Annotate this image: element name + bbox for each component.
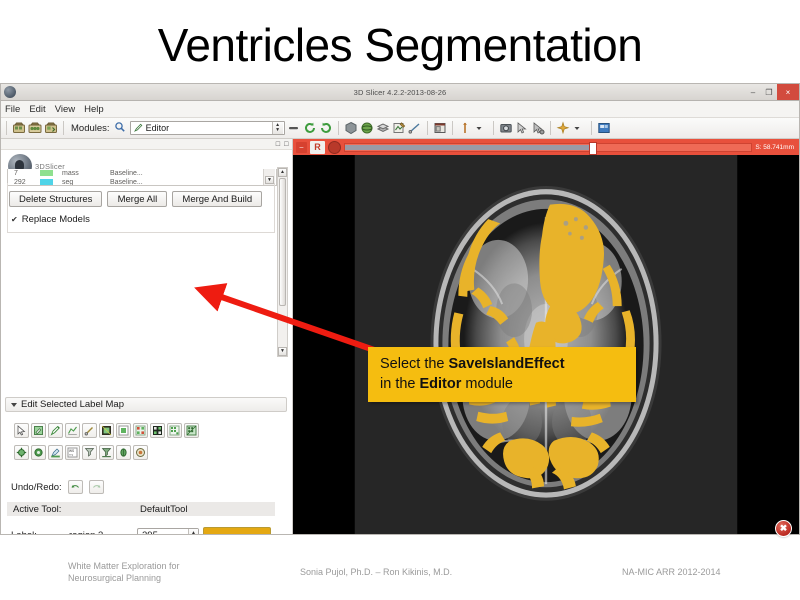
checkmark-icon: ✔ — [11, 215, 18, 224]
callout-box: Select the SaveIslandEffect in the Edito… — [368, 347, 636, 402]
close-button[interactable]: × — [777, 84, 799, 100]
footer-left: White Matter Exploration for Neurosurgic… — [68, 560, 180, 584]
layout-icon[interactable] — [433, 121, 447, 135]
ruler-icon[interactable] — [408, 121, 422, 135]
editor-pencil-icon — [134, 123, 143, 134]
slider-track-filled — [345, 145, 593, 150]
chevron-up-icon[interactable]: ▲ — [191, 531, 196, 536]
svg-text:WS: WS — [69, 449, 74, 453]
layers-icon[interactable] — [376, 121, 390, 135]
chevron-down-icon: ▼ — [275, 128, 280, 133]
label-opacity-icon[interactable] — [133, 445, 148, 460]
footer-authors: Sonia Pujol, Ph.D. – Ron Kikinis, M.D. — [300, 566, 452, 578]
footer-attribution: NA-MIC ARR 2012-2014 — [622, 566, 721, 578]
label-value: 295 — [142, 530, 158, 535]
capture-icon[interactable] — [499, 121, 513, 135]
slide-footer: White Matter Exploration for Neurosurgic… — [0, 558, 800, 598]
label-name-value: region 3 — [69, 530, 137, 535]
red-slice-view: – R S: 58.741mm — [293, 139, 799, 535]
menu-item-file[interactable]: File — [5, 104, 20, 115]
replace-models-label: Replace Models — [22, 214, 90, 225]
merge-and-build-button[interactable]: Merge And Build — [172, 191, 262, 207]
label-color-swatch[interactable] — [203, 527, 271, 536]
chevron-up-icon[interactable]: ▲ — [278, 168, 287, 177]
axial-brain-mri-with-yellow-segmentation-overlay — [293, 155, 799, 535]
structure-description: Baseline... — [110, 170, 276, 177]
callout-line2-bold: Editor — [420, 376, 462, 392]
draw-effect-icon[interactable] — [48, 423, 63, 438]
edit-selected-label-map-label: Edit Selected Label Map — [21, 399, 124, 410]
footer-left-line2: Neurosurgical Planning — [68, 572, 180, 584]
callout-line2-suffix: module — [461, 376, 513, 392]
watershed-icon[interactable]: WSseg — [65, 445, 80, 460]
menu-item-help[interactable]: Help — [84, 104, 104, 115]
change-label-icon[interactable] — [48, 445, 63, 460]
minimize-button[interactable]: – — [745, 84, 761, 100]
structure-number: 292 — [14, 179, 40, 186]
undock-icon[interactable]: ☐ — [275, 141, 280, 148]
extension-manager-icon[interactable] — [597, 121, 611, 135]
fill-region-icon[interactable] — [116, 423, 131, 438]
slice-offset-slider[interactable] — [344, 143, 752, 152]
structure-color-swatch — [40, 179, 62, 187]
toolbar-separator — [6, 121, 7, 135]
label-row: Label: region 3 295 ▲ ▼ — [7, 527, 275, 535]
save-data-icon[interactable] — [44, 121, 58, 135]
close-overlay-button[interactable]: ✖ — [775, 520, 792, 537]
editor-effects-row-1 — [14, 423, 199, 438]
layout-dropdown-icon[interactable] — [474, 121, 488, 135]
menubar: File Edit View Help — [1, 101, 799, 118]
undo-redo-group: Undo/Redo: — [11, 480, 104, 494]
menu-item-edit[interactable]: Edit — [29, 104, 45, 115]
fiducial-icon[interactable] — [556, 121, 570, 135]
callout-line1-prefix: Select the — [380, 356, 449, 372]
grow-cut-icon[interactable] — [82, 445, 97, 460]
screenshot-icon[interactable] — [392, 121, 406, 135]
structure-number: 7 — [14, 170, 40, 177]
panel-scrollbar[interactable]: ▲ ▼ — [277, 167, 288, 357]
threshold-effect-icon[interactable] — [99, 423, 114, 438]
label-label: Label: — [7, 530, 69, 535]
chevron-down-icon — [11, 403, 17, 407]
close-panel-icon[interactable]: ☐ — [284, 141, 289, 148]
save-island-effect-icon[interactable] — [184, 423, 199, 438]
structure-name: seg — [62, 179, 110, 186]
slicer-application-window: 3D Slicer 4.2.2-2013-08-26 – ❐ × File Ed… — [0, 83, 800, 535]
edit-selected-label-map-header[interactable]: Edit Selected Label Map — [5, 397, 287, 412]
next-module-icon[interactable] — [319, 121, 333, 135]
default-tool-icon[interactable] — [14, 423, 29, 438]
fiducial-dropdown-icon[interactable] — [572, 121, 586, 135]
toolbar-separator — [493, 121, 494, 135]
load-data-icon[interactable] — [28, 121, 42, 135]
eye-icon[interactable] — [328, 141, 341, 154]
page-title: Ventricles Segmentation — [0, 18, 800, 72]
structures-table[interactable]: 7 mass Baseline... 292 seg Baseline... ▼ — [7, 169, 277, 186]
structures-scrollbar[interactable]: ▼ — [263, 169, 275, 185]
delete-structures-button[interactable]: Delete Structures — [9, 191, 102, 207]
menu-item-view[interactable]: View — [55, 104, 75, 115]
maximize-button[interactable]: ❐ — [761, 84, 777, 100]
application-body: ☐ ☐ 3DSlicer 7 mass Baseline... — [1, 139, 799, 535]
paint-effect-icon[interactable] — [31, 423, 46, 438]
table-row[interactable]: 7 mass Baseline... — [8, 169, 276, 178]
chevron-updown-icon[interactable]: ▲ ▼ — [272, 122, 283, 134]
svg-text:seg: seg — [69, 454, 74, 457]
chevron-down-icon[interactable]: ▼ — [265, 176, 274, 184]
callout-line1-bold: SaveIslandEffect — [449, 356, 565, 372]
slice-coordinate-readout: S: 58.741mm — [755, 144, 796, 151]
panel-dock-controls: ☐ ☐ — [1, 139, 292, 150]
toolbar-separator — [63, 121, 64, 135]
structure-actions: Delete Structures Merge All Merge And Bu… — [9, 191, 262, 207]
undo-button[interactable] — [68, 480, 83, 494]
fast-marching-icon[interactable] — [99, 445, 114, 460]
scrollbar-thumb[interactable] — [279, 178, 286, 306]
structure-color-swatch — [40, 170, 62, 178]
remove-islands-icon[interactable] — [167, 423, 182, 438]
active-tool-label: Active Tool: — [7, 504, 140, 515]
label-value-spinbox[interactable]: 295 ▲ ▼ — [137, 528, 199, 536]
toolbar-separator — [550, 121, 551, 135]
3d-view-icon[interactable] — [344, 121, 358, 135]
level-tracing-icon[interactable] — [65, 423, 80, 438]
load-scene-icon[interactable] — [12, 121, 26, 135]
toolbar-separator — [338, 121, 339, 135]
sphere-view-icon[interactable] — [360, 121, 374, 135]
slice-view-name[interactable]: R — [310, 141, 325, 154]
slider-handle[interactable] — [589, 142, 597, 155]
search-icon[interactable] — [114, 121, 128, 135]
mouse-pick-icon[interactable] — [531, 121, 545, 135]
structure-description: Baseline... — [110, 179, 276, 186]
dilate-icon[interactable] — [14, 445, 29, 460]
replace-models-checkbox[interactable]: ✔ Replace Models — [11, 214, 90, 225]
structure-name: mass — [62, 170, 110, 177]
modules-label: Modules: — [71, 123, 110, 134]
main-toolbar: Modules: Editor ▲ ▼ — [1, 118, 799, 139]
table-row[interactable]: 292 seg Baseline... — [8, 178, 276, 186]
module-selector-combobox[interactable]: Editor ▲ ▼ — [130, 121, 285, 135]
active-tool-row: Active Tool: DefaultTool — [7, 502, 275, 516]
callout-line-2: in the Editor module — [380, 374, 626, 394]
toolbar-separator — [427, 121, 428, 135]
mouse-mode-icon[interactable] — [515, 121, 529, 135]
active-tool-value: DefaultTool — [140, 504, 188, 515]
editor-effects-row-2: WSseg — [14, 445, 148, 460]
window-controls: – ❐ × — [745, 84, 799, 100]
module-panel: ☐ ☐ 3DSlicer 7 mass Baseline... — [1, 139, 293, 535]
redo-button[interactable] — [89, 480, 104, 494]
undo-redo-label: Undo/Redo: — [11, 482, 62, 493]
merge-all-button[interactable]: Merge All — [107, 191, 167, 207]
module-selector-value: Editor — [146, 123, 170, 133]
spinbox-arrows[interactable]: ▲ ▼ — [188, 529, 198, 536]
previous-module-icon[interactable] — [303, 121, 317, 135]
erase-islands-icon[interactable] — [133, 423, 148, 438]
presentation-slide: Ventricles Segmentation 3D Slicer 4.2.2-… — [0, 0, 800, 600]
rectangle-effect-icon[interactable] — [82, 423, 97, 438]
identify-islands-icon[interactable] — [116, 445, 131, 460]
footer-left-line1: White Matter Exploration for — [68, 560, 180, 572]
module-history-icon[interactable] — [287, 121, 301, 135]
callout-line2-prefix: in the — [380, 376, 420, 392]
window-title: 3D Slicer 4.2.2-2013-08-26 — [1, 88, 799, 97]
change-island-icon[interactable] — [150, 423, 165, 438]
pin-icon[interactable]: – — [296, 142, 307, 153]
slice-view-header: – R S: 58.741mm — [293, 139, 799, 155]
callout-line-1: Select the SaveIslandEffect — [380, 354, 626, 374]
crosshair-toggle-icon[interactable] — [458, 121, 472, 135]
erode-icon[interactable] — [31, 445, 46, 460]
slice-image-canvas[interactable] — [293, 155, 799, 535]
chevron-down-icon[interactable]: ▼ — [278, 347, 287, 356]
toolbar-separator — [591, 121, 592, 135]
toolbar-separator — [452, 121, 453, 135]
window-titlebar: 3D Slicer 4.2.2-2013-08-26 – ❐ × — [1, 84, 799, 101]
